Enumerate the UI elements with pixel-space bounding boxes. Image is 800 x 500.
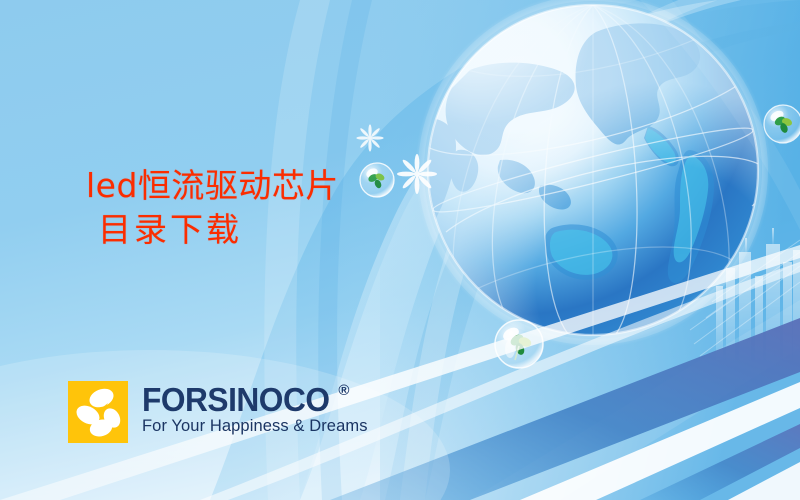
bubble-icon bbox=[360, 105, 800, 368]
city-skyline-icon bbox=[690, 228, 800, 360]
headline-text: led恒流驱动芯片 目录下载 bbox=[86, 166, 339, 251]
headline-line-2: 目录下载 bbox=[98, 210, 339, 250]
brand-name: FORSINOCO bbox=[142, 383, 330, 416]
earth-globe-icon bbox=[400, 0, 771, 348]
pinwheel-flower-icon bbox=[68, 381, 128, 443]
logo-text-block: FORSINOCO ® For Your Happiness & Dreams bbox=[142, 383, 368, 436]
starburst-sparkle-icon bbox=[356, 124, 437, 194]
promo-banner: led恒流驱动芯片 目录下载 FORSINOCO ® For bbox=[0, 0, 800, 500]
brand-tagline: For Your Happiness & Dreams bbox=[142, 417, 368, 436]
company-logo[interactable]: FORSINOCO ® For Your Happiness & Dreams bbox=[68, 381, 368, 443]
registered-trademark-icon: ® bbox=[338, 383, 349, 399]
headline-line-1: led恒流驱动芯片 bbox=[86, 166, 339, 206]
